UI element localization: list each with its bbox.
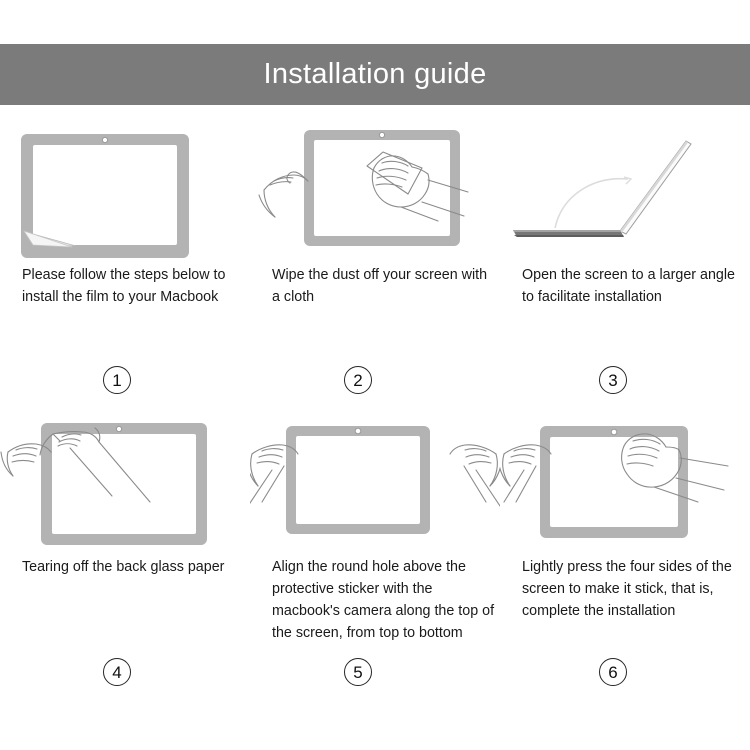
page-title: Installation guide <box>263 60 486 89</box>
step-card-3: Open the screen to a larger angle to fac… <box>500 118 750 410</box>
step-4-caption: Tearing off the back glass paper <box>22 556 238 578</box>
step-2-number: 2 <box>353 372 362 389</box>
step-1-illustration <box>0 118 250 258</box>
step-6-caption: Lightly press the four sides of the scre… <box>522 556 750 622</box>
step-6-illustration <box>500 410 750 550</box>
step-5-number: 5 <box>353 664 362 681</box>
step-3-number-badge: 3 <box>599 366 627 394</box>
step-1-number-badge: 1 <box>103 366 131 394</box>
step-card-2: Wipe the dust off your screen with a clo… <box>250 118 500 410</box>
step-card-6: Lightly press the four sides of the scre… <box>500 410 750 702</box>
step-1-number: 1 <box>112 372 121 389</box>
installation-steps-grid: Please follow the steps below to install… <box>0 118 750 738</box>
step-6-number: 6 <box>608 664 617 681</box>
step-3-caption: Open the screen to a larger angle to fac… <box>522 264 738 308</box>
step-6-number-badge: 6 <box>599 658 627 686</box>
step-4-number-badge: 4 <box>103 658 131 686</box>
step-1-caption: Please follow the steps below to install… <box>22 264 238 308</box>
step-5-illustration <box>250 410 500 550</box>
step-4-illustration <box>0 410 250 550</box>
step-3-illustration <box>500 118 750 258</box>
step-3-number: 3 <box>608 372 617 389</box>
step-card-5: Align the round hole above the protectiv… <box>250 410 500 702</box>
step-2-number-badge: 2 <box>344 366 372 394</box>
step-5-number-badge: 5 <box>344 658 372 686</box>
page-header-banner: Installation guide <box>0 44 750 105</box>
step-5-caption: Align the round hole above the protectiv… <box>272 556 496 644</box>
step-2-illustration <box>250 118 500 258</box>
step-2-caption: Wipe the dust off your screen with a clo… <box>272 264 488 308</box>
step-card-4: Tearing off the back glass paper 4 <box>0 410 250 702</box>
step-4-number: 4 <box>112 664 121 681</box>
step-card-1: Please follow the steps below to install… <box>0 118 250 410</box>
